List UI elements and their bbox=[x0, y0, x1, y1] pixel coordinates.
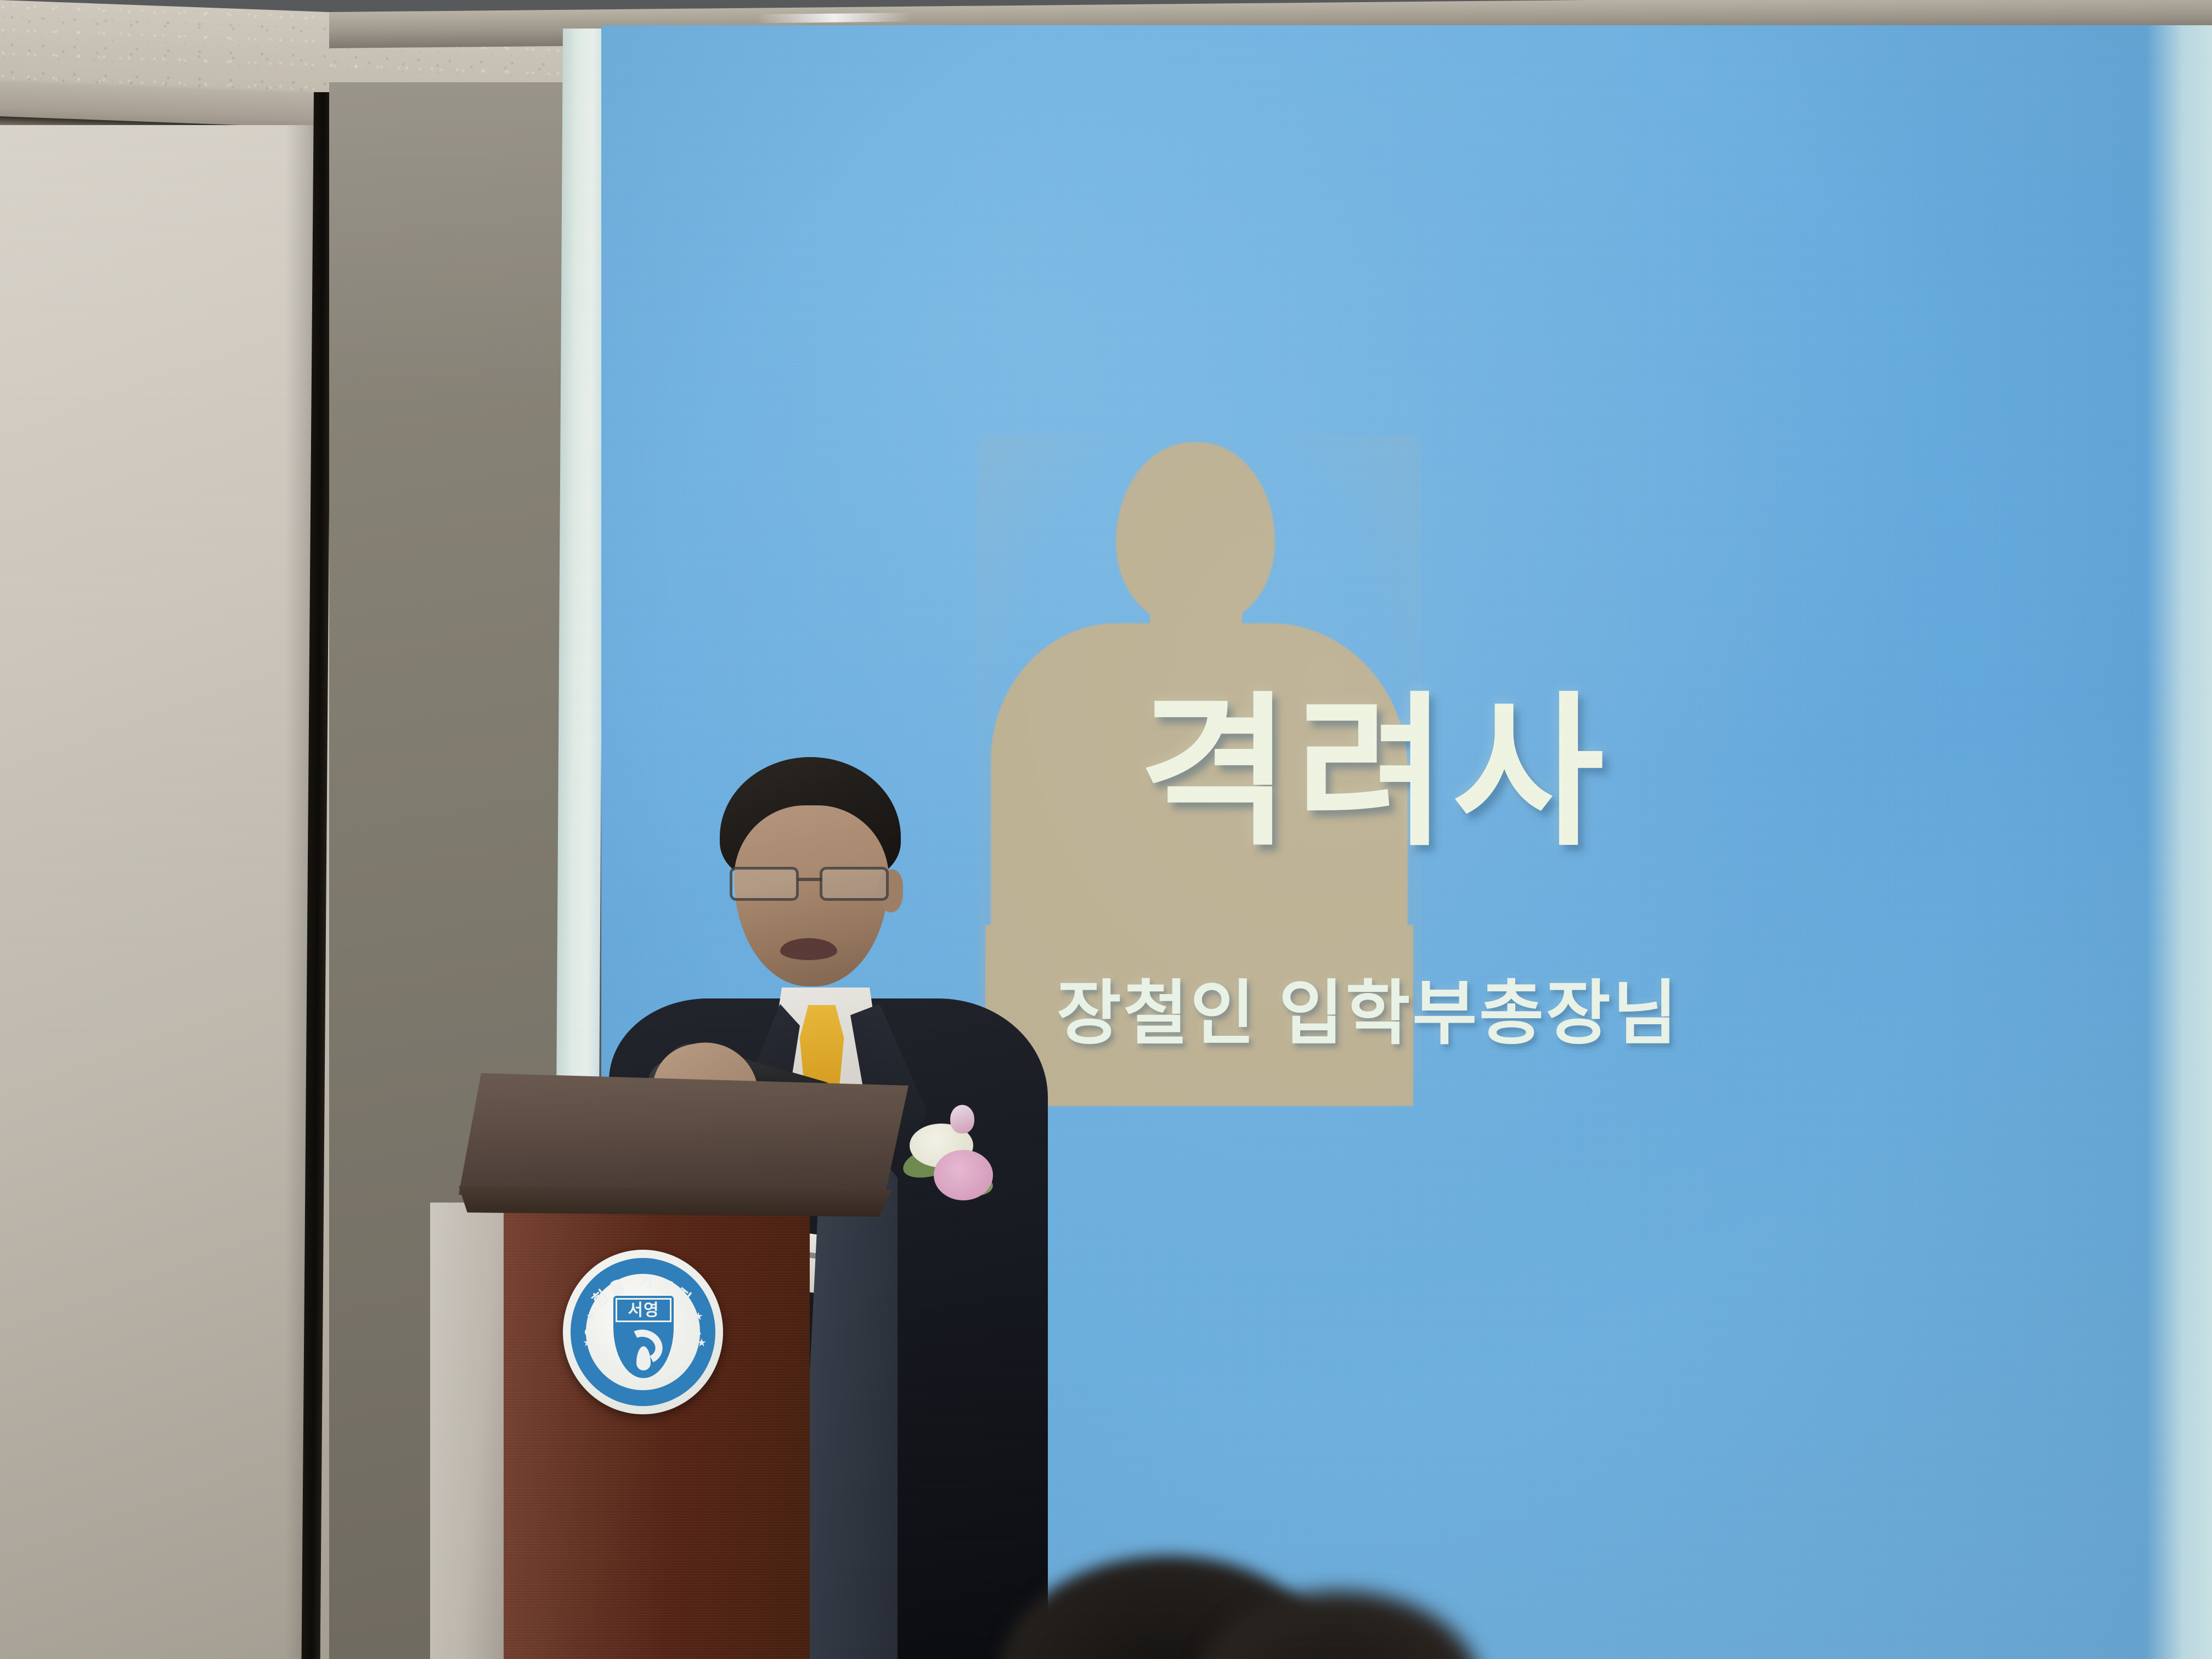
left-wall bbox=[0, 125, 329, 1659]
emblem-star-icon: ★ bbox=[586, 1311, 596, 1322]
eyeglass-bridge bbox=[798, 878, 822, 881]
eyeglass-lens-right bbox=[820, 867, 889, 901]
wall-strip-behind-podium bbox=[430, 1203, 505, 1659]
screen-backing-highlight bbox=[329, 82, 582, 411]
emblem-shield-label: 서영 bbox=[616, 1300, 672, 1321]
eyeglasses bbox=[730, 867, 894, 903]
screen-right-washout bbox=[2146, 25, 2212, 1659]
emblem-star-icon: ★ bbox=[693, 1311, 703, 1322]
emblem-star-icon: ★ bbox=[697, 1338, 707, 1348]
university-emblem: 힘을 기르자 SEOYEONG 1978 UNIVERSITY ★ ★ ★ ★ … bbox=[563, 1250, 723, 1414]
mouth bbox=[780, 938, 837, 960]
eyeglass-lens-left bbox=[730, 867, 799, 901]
slide-subtitle: 장철인 입학부총장님 bbox=[1057, 979, 1679, 1049]
emblem-star-icon: ★ bbox=[583, 1338, 592, 1348]
rail-glint bbox=[757, 13, 911, 23]
slide-title: 격려사 bbox=[1139, 690, 1610, 855]
podium-top-edge bbox=[459, 1186, 892, 1217]
photo-scene: 격려사 장철인 입학부총장님 bbox=[0, 0, 2212, 1659]
